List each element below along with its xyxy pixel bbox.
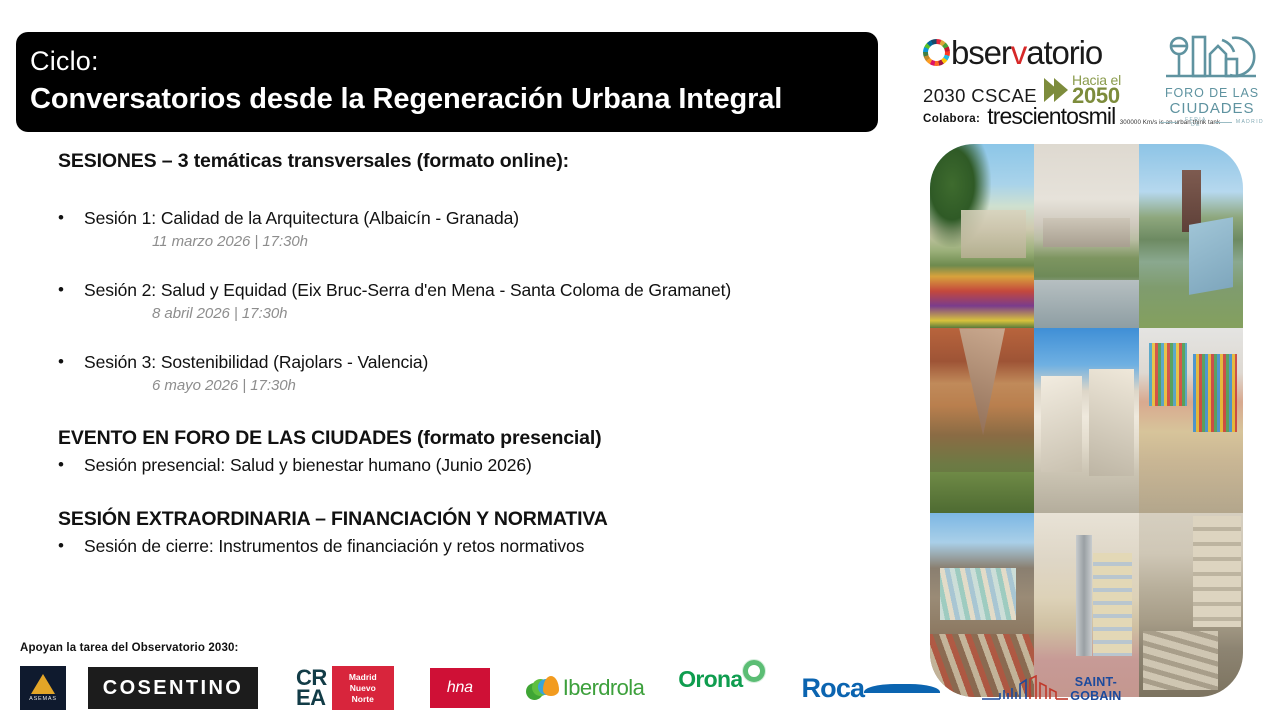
- collage-photo-3: [1139, 144, 1243, 328]
- hacia-2050-logo: Hacia el 2050: [1044, 73, 1121, 107]
- extra-item-label: Sesión de cierre: Instrumentos de financ…: [84, 533, 584, 559]
- roca-wave-icon: [864, 684, 940, 693]
- observatorio-word: bservatorio: [951, 36, 1102, 69]
- foro-rule-mid: [1215, 122, 1232, 123]
- logo-zone: bservatorio 2030 CSCAE Hacia el 2050 Col…: [905, 22, 1280, 140]
- collage-photo-4: [930, 328, 1034, 512]
- foro-ciudades-logo: FORO DE LAS CIUDADES FERIA DE MADRID: [1160, 28, 1264, 114]
- double-chevron-icon: [1044, 78, 1068, 102]
- sponsor-hna: hna: [394, 666, 490, 710]
- sponsor-orona: Orona: [678, 666, 765, 710]
- session-label-2: Sesión 2: Salud y Equidad (Eix Bruc-Serr…: [84, 277, 731, 303]
- orona-ring-icon: [743, 660, 765, 682]
- session-label-1: Sesión 1: Calidad de la Arquitectura (Al…: [84, 205, 519, 231]
- roca-wordmark: Roca: [801, 675, 864, 701]
- foro-line-2: CIUDADES: [1160, 101, 1264, 116]
- asemas-triangle-icon: [31, 674, 55, 694]
- forum-item-label: Sesión presencial: Salud y bienestar hum…: [84, 452, 532, 478]
- session-item-3: • Sesión 3: Sostenibilidad (Rajolars - V…: [58, 349, 900, 375]
- forum-item: • Sesión presencial: Salud y bienestar h…: [58, 452, 900, 478]
- collage-photo-2: [1034, 144, 1138, 328]
- trescientosmil-word: trescientosmil: [987, 103, 1115, 129]
- session-date-2: 8 abril 2026 | 17:30h: [152, 303, 900, 325]
- page-title: Conversatorios desde la Regeneración Urb…: [30, 79, 878, 119]
- mnn-line-3: Norte: [352, 694, 374, 705]
- mnn-line-2: Nuevo: [350, 683, 376, 694]
- session-item-1: • Sesión 1: Calidad de la Arquitectura (…: [58, 205, 900, 231]
- crea-line-2: EA: [296, 688, 327, 708]
- observatorio-word-v: v: [1011, 34, 1026, 71]
- extra-item: • Sesión de cierre: Instrumentos de fina…: [58, 533, 900, 559]
- observatorio-word-part2: atorio: [1026, 34, 1102, 71]
- foro-skyline-icon: [1160, 28, 1264, 86]
- bullet-icon: •: [58, 349, 84, 375]
- collage-photo-1: [930, 144, 1034, 328]
- cosentino-logo: COSENTINO: [88, 667, 258, 709]
- observatorio-logo: bservatorio 2030 CSCAE Hacia el 2050: [923, 32, 1121, 107]
- session-item-2: • Sesión 2: Salud y Equidad (Eix Bruc-Se…: [58, 277, 900, 303]
- mnn-line-1: Madrid: [349, 672, 377, 683]
- bullet-icon: •: [58, 277, 84, 303]
- bullet-icon: •: [58, 205, 84, 231]
- collage-photo-6: [1139, 328, 1243, 512]
- bullet-icon: •: [58, 452, 84, 478]
- bullet-icon: •: [58, 533, 84, 559]
- title-eyebrow: Ciclo:: [30, 43, 878, 79]
- sponsor-cosentino: COSENTINO: [88, 666, 258, 710]
- foro-madrid-label: MADRID: [1236, 120, 1264, 125]
- asemas-logo: ASEMAS: [20, 666, 66, 710]
- content-body: SESIONES – 3 temáticas transversales (fo…: [0, 150, 900, 559]
- session-label-3: Sesión 3: Sostenibilidad (Rajolars - Val…: [84, 349, 428, 375]
- asemas-label: ASEMAS: [29, 696, 57, 702]
- sponsor-strip: ASEMAS COSENTINO CR EA Madrid Nuevo Nort…: [20, 663, 880, 713]
- saint-gobain-skyline-icon: [980, 675, 1070, 701]
- photo-collage: [930, 144, 1243, 697]
- sdg-wheel-icon: [923, 39, 950, 66]
- hna-logo: hna: [430, 668, 490, 708]
- iberdrola-leaf-icon: [526, 674, 558, 702]
- slide-root: Ciclo: Conversatorios desde la Regenerac…: [0, 0, 1280, 720]
- collage-photo-9: [1139, 513, 1243, 697]
- sponsor-asemas: ASEMAS: [20, 666, 66, 710]
- crea-logo: CR EA: [296, 668, 327, 708]
- madrid-nuevo-norte-logo: Madrid Nuevo Norte: [332, 666, 394, 710]
- foro-feria-label: FERIA DE: [1181, 118, 1210, 128]
- foro-line-3: FERIA DE MADRID: [1160, 118, 1264, 128]
- session-date-3: 6 mayo 2026 | 17:30h: [152, 375, 900, 397]
- sponsors-label: Apoyan la tarea del Observatorio 2030:: [20, 642, 239, 654]
- sponsor-iberdrola: Iberdrola: [526, 666, 644, 710]
- saint-gobain-wordmark: SAINT-GOBAIN: [1070, 675, 1121, 703]
- title-banner: Ciclo: Conversatorios desde la Regenerac…: [16, 32, 878, 132]
- sponsor-saint-gobain: SAINT-GOBAIN: [980, 666, 1121, 710]
- colabora-label: Colabora:: [923, 113, 980, 125]
- iberdrola-wordmark: Iberdrola: [563, 675, 644, 701]
- hacia-text: Hacia el 2050: [1072, 73, 1121, 107]
- orona-wordmark: Orona: [678, 666, 742, 693]
- sessions-heading: SESIONES – 3 temáticas transversales (fo…: [58, 150, 900, 173]
- session-date-1: 11 marzo 2026 | 17:30h: [152, 231, 900, 253]
- forum-heading: EVENTO EN FORO DE LAS CIUDADES (formato …: [58, 427, 900, 450]
- foro-line-1: FORO DE LAS: [1160, 87, 1264, 100]
- observatorio-subline: 2030 CSCAE Hacia el 2050: [923, 73, 1121, 107]
- foro-rule-left: [1160, 122, 1177, 123]
- observatorio-word-part1: bser: [951, 34, 1011, 71]
- collage-photo-5: [1034, 328, 1138, 512]
- sponsor-crea: CR EA Madrid Nuevo Norte: [296, 666, 394, 710]
- extra-heading: SESIÓN EXTRAORDINARIA – FINANCIACIÓN Y N…: [58, 508, 900, 531]
- foro-wordmark: FORO DE LAS CIUDADES FERIA DE MADRID: [1160, 87, 1264, 128]
- observatorio-wordmark: bservatorio: [923, 32, 1121, 72]
- sponsor-roca: Roca: [801, 666, 940, 710]
